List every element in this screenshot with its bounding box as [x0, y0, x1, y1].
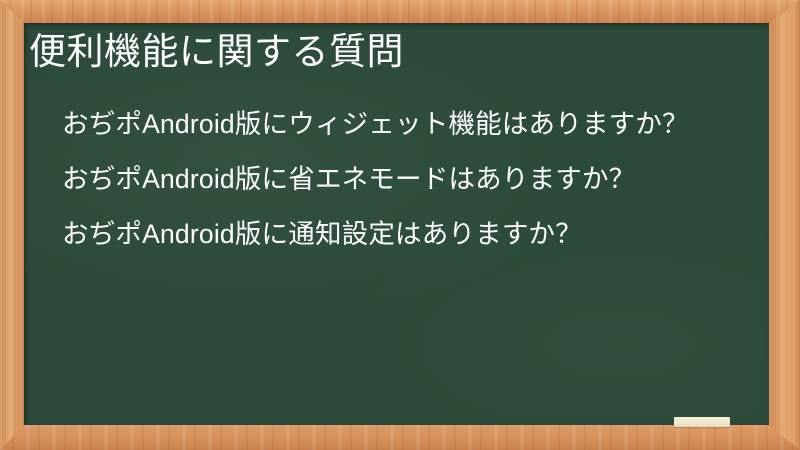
- page-title: 便利機能に関する質問: [29, 29, 404, 75]
- question-list: おぢポAndroid版にウィジェット機能はありますか？ おぢポAndroid版に…: [62, 105, 752, 253]
- frame-right-wood: [769, 0, 800, 450]
- list-item: おぢポAndroid版に通知設定はありますか？: [62, 215, 752, 253]
- frame-left-wood: [0, 0, 24, 450]
- frame-top-wood: [0, 0, 800, 23]
- frame-bottom-wood: [0, 425, 800, 450]
- chalkboard-surface: 便利機能に関する質問 おぢポAndroid版にウィジェット機能はありますか？ お…: [24, 23, 769, 425]
- list-item: おぢポAndroid版に省エネモードはありますか？: [62, 160, 752, 198]
- chalkboard-content: 便利機能に関する質問 おぢポAndroid版にウィジェット機能はありますか？ お…: [24, 23, 769, 425]
- chalkboard-frame: 便利機能に関する質問 おぢポAndroid版にウィジェット機能はありますか？ お…: [0, 0, 800, 450]
- list-item: おぢポAndroid版にウィジェット機能はありますか？: [62, 105, 752, 143]
- chalk-stick-icon: [674, 417, 730, 427]
